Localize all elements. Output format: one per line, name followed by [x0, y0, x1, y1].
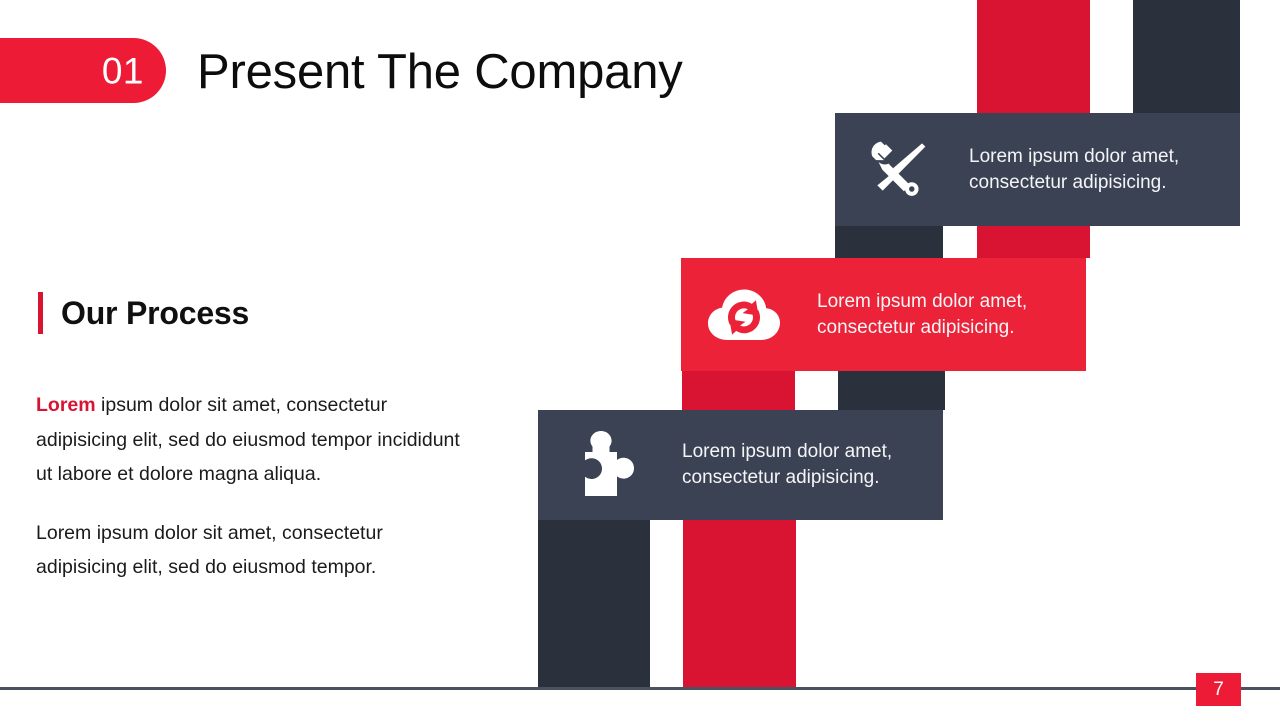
cloud-sync-icon: [705, 284, 783, 346]
paragraph-2: Lorem ipsum dolor sit amet, consectetur …: [36, 516, 468, 585]
slide-number-label: 01: [102, 52, 144, 89]
page-title: Present The Company: [197, 40, 683, 104]
decor-block-navy-mid-lower: [838, 371, 945, 410]
process-card-3-text: Lorem ipsum dolor amet, consectetur adip…: [682, 439, 943, 491]
paragraph-1: Lorem ipsum dolor sit amet, consectetur …: [36, 388, 468, 492]
decor-block-red-mid-lower: [682, 371, 795, 410]
slide-number-tab: 01: [0, 38, 166, 103]
decor-block-navy-mid-upper: [835, 226, 943, 258]
process-card-2-text: Lorem ipsum dolor amet, consectetur adip…: [817, 289, 1086, 341]
process-card-2[interactable]: Lorem ipsum dolor amet, consectetur adip…: [681, 258, 1086, 371]
puzzle-piece-icon: [576, 428, 644, 502]
body-copy: Lorem ipsum dolor sit amet, consectetur …: [36, 388, 468, 585]
decor-block-red-mid-upper: [977, 226, 1090, 258]
paragraph-1-lead: Lorem: [36, 394, 96, 416]
section-heading-label: Our Process: [61, 297, 249, 329]
slide-canvas: 01 Present The Company Our Process Lorem…: [0, 0, 1280, 720]
decor-block-navy-top-right: [1133, 0, 1240, 113]
page-number-badge: 7: [1196, 673, 1241, 706]
process-card-1[interactable]: Lorem ipsum dolor amet, consectetur adip…: [835, 113, 1240, 226]
paragraph-2-rest: Lorem ipsum dolor sit amet, consectetur …: [36, 522, 383, 579]
section-heading: Our Process: [38, 292, 249, 334]
process-card-1-text: Lorem ipsum dolor amet, consectetur adip…: [969, 144, 1240, 196]
paragraph-1-rest: ipsum dolor sit amet, consectetur adipis…: [36, 394, 460, 485]
footer-divider: [0, 687, 1280, 690]
section-accent-bar: [38, 292, 43, 334]
tools-icon: [863, 135, 933, 205]
process-card-3[interactable]: Lorem ipsum dolor amet, consectetur adip…: [538, 410, 943, 520]
decor-block-red-bottom: [683, 520, 796, 688]
decor-block-navy-bottom-left: [538, 520, 650, 688]
decor-block-red-top-upper: [977, 0, 1090, 113]
